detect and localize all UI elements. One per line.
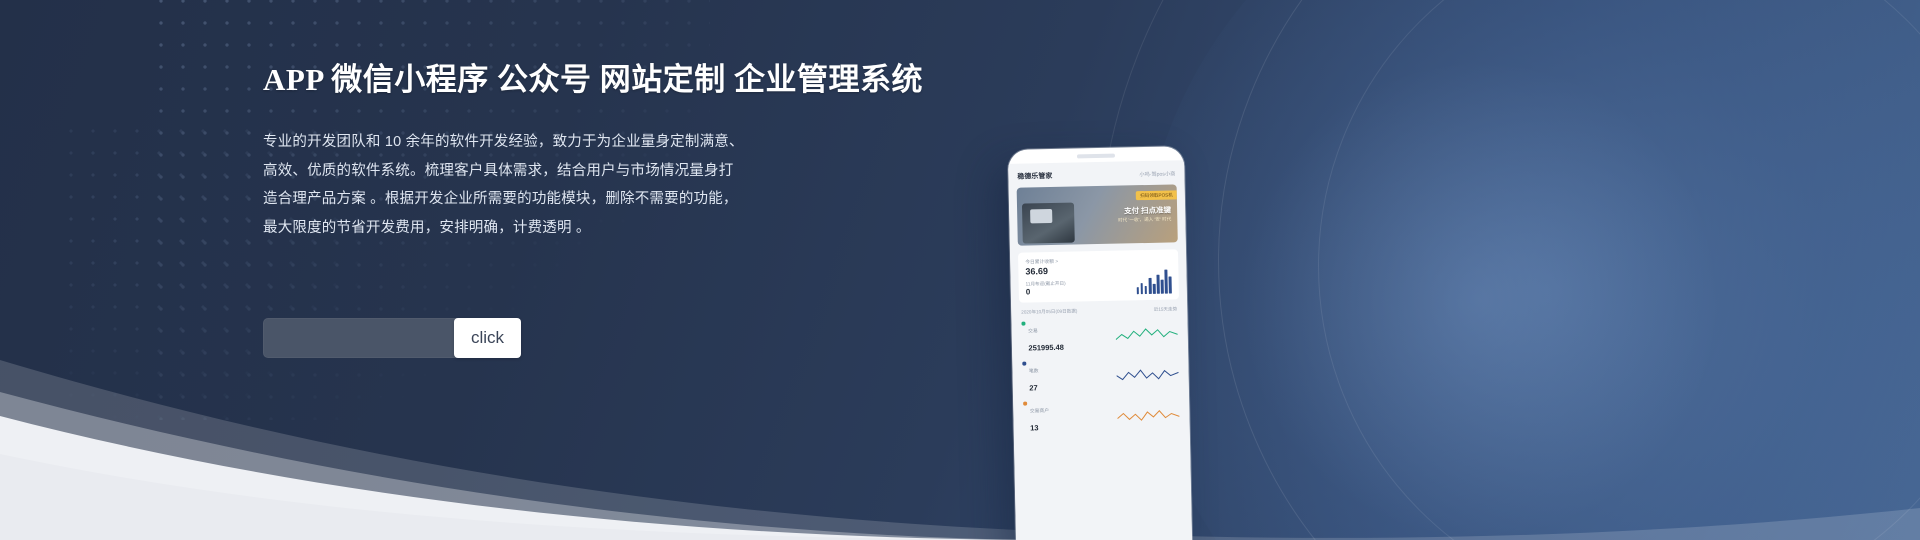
click-button[interactable]: click <box>454 318 521 358</box>
promo-headline: 支付 扫点准键 <box>1124 204 1171 216</box>
stat-name: 交易 <box>1028 329 1038 334</box>
description-line: 专业的开发团队和 10 余年的软件开发经验，致力于为企业量身定制满意、 <box>263 128 1043 157</box>
app-header-subtitle: 小吗·驾pos小商 <box>1139 170 1175 178</box>
stat-value: 27 <box>1029 383 1038 392</box>
cta-input-bar[interactable] <box>263 318 460 358</box>
wave-decoration <box>0 240 1920 540</box>
promo-banner[interactable]: 扫码领取POS机 支付 扫点准键 时代 '一收'，递入 '安' 时代 <box>1017 184 1178 245</box>
promo-subline: 时代 '一收'，递入 '安' 时代 <box>1118 216 1171 223</box>
pos-terminal-image <box>1022 203 1075 244</box>
phone-speaker <box>1077 154 1115 159</box>
sparkline-chart <box>1116 324 1178 345</box>
stat-value: 13 <box>1030 423 1039 432</box>
stat-row: 交易商户 13 <box>1023 396 1180 435</box>
description-line: 最大限度的节省开发费用，安排明确，计费透明 。 <box>263 214 1043 243</box>
today-summary-card[interactable]: 今日累计收额 > 36.69 11月布迎(截止开日) 0 <box>1018 249 1179 302</box>
phone-screen: 稳德乐管家 小吗·驾pos小商 扫码领取POS机 支付 扫点准键 时代 '一收'… <box>1008 160 1192 540</box>
stat-dot-icon <box>1023 402 1027 406</box>
app-header: 稳德乐管家 小吗·驾pos小商 <box>1008 160 1184 188</box>
promo-ribbon: 扫码领取POS机 <box>1136 190 1177 200</box>
hero-description: 专业的开发团队和 10 余年的软件开发经验，致力于为企业量身定制满意、 高效、优… <box>263 128 1043 242</box>
phone-mockup: 稳德乐管家 小吗·驾pos小商 扫码领取POS机 支付 扫点准键 时代 '一收'… <box>1008 146 1192 540</box>
stat-dot-icon <box>1021 322 1025 326</box>
stat-name: 交易商户 <box>1030 409 1049 414</box>
phone-body: 稳德乐管家 小吗·驾pos小商 扫码领取POS机 支付 扫点准键 时代 '一收'… <box>1008 146 1192 540</box>
sparkline-chart <box>1116 364 1178 385</box>
sparkline-chart <box>1117 404 1179 425</box>
stats-date: 2020年10月05日(09日数据) <box>1021 308 1077 315</box>
stats-header: 2020年10月05日(09日数据) 近15天走势 <box>1021 306 1177 315</box>
stat-name: 笔数 <box>1029 369 1039 374</box>
stat-value: 251995.48 <box>1028 343 1064 353</box>
page-title: APP 微信小程序 公众号 网站定制 企业管理系统 <box>263 58 1043 102</box>
app-header-title: 稳德乐管家 <box>1017 171 1052 182</box>
stat-row: 笔数 27 <box>1022 356 1179 395</box>
stat-dot-icon <box>1022 362 1026 366</box>
mini-bar-chart <box>1136 269 1172 294</box>
stat-row: 交易 251995.48 <box>1021 316 1178 355</box>
hero-content: APP 微信小程序 公众号 网站定制 企业管理系统 专业的开发团队和 10 余年… <box>263 58 1043 242</box>
stats-range: 近15天走势 <box>1154 306 1178 312</box>
description-line: 高效、优质的软件系统。梳理客户具体需求，结合用户与市场情况量身打 <box>263 157 1043 186</box>
cta-group: click <box>263 318 521 358</box>
hero-banner: APP 微信小程序 公众号 网站定制 企业管理系统 专业的开发团队和 10 余年… <box>0 0 1920 540</box>
description-line: 造合理产品方案 。根据开发企业所需要的功能模块，删除不需要的功能， <box>263 185 1043 214</box>
